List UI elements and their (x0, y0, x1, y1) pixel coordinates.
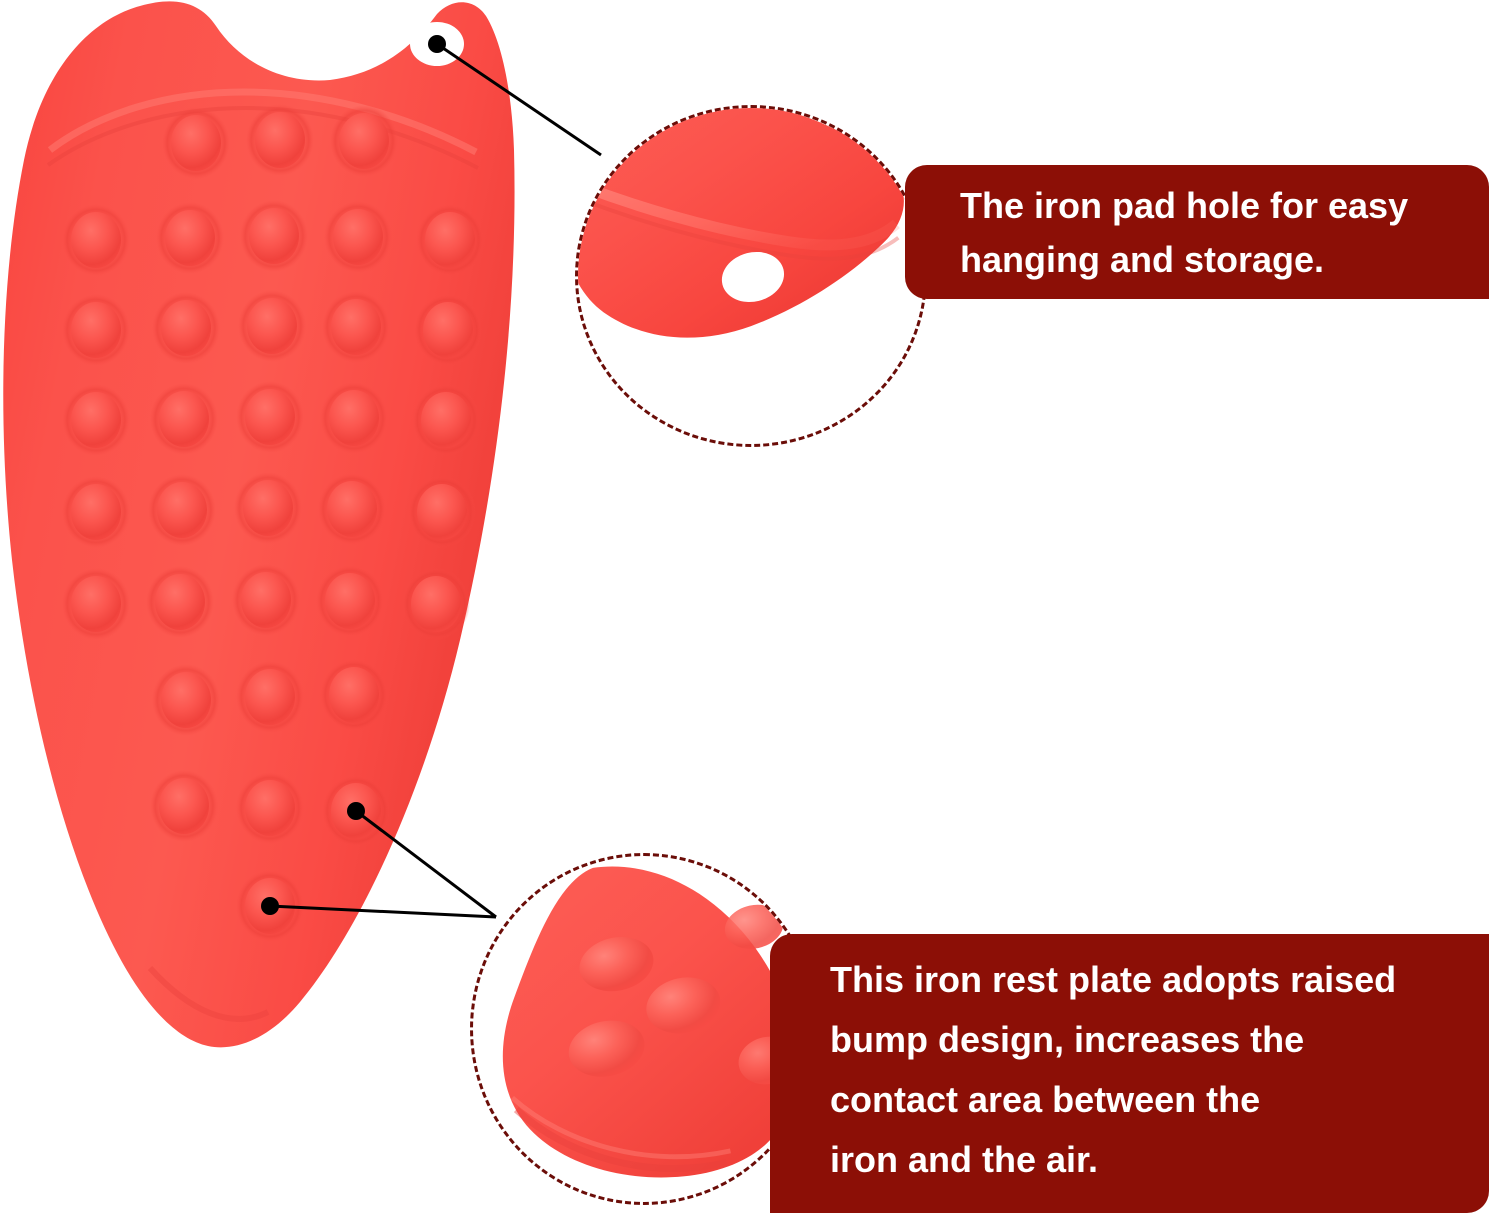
iron-rest-pad-image (0, 0, 520, 1060)
detail-view-hanging-hole (575, 105, 927, 447)
callout-2-line-2: bump design, increases the (830, 1010, 1463, 1070)
detail-view-raised-bumps (470, 853, 818, 1205)
hole-closeup-illustration (578, 108, 924, 444)
hanging-hole (410, 22, 464, 66)
callout-box-raised-bumps: This iron rest plate adopts raised bump … (770, 934, 1489, 1213)
callout-2-line-3: contact area between the (830, 1070, 1463, 1130)
callout-2-line-1: This iron rest plate adopts raised (830, 950, 1463, 1010)
pad-corner-closeup (578, 108, 904, 338)
callout-box-hanging-hole: The iron pad hole for easy hanging and s… (905, 165, 1489, 299)
bump-closeup-illustration (473, 856, 815, 1202)
iron-pad-illustration (0, 0, 520, 1060)
infographic-canvas: The iron pad hole for easy hanging and s… (0, 0, 1489, 1221)
callout-1-line-2: hanging and storage. (960, 233, 1463, 287)
callout-2-line-4: iron and the air. (830, 1130, 1463, 1190)
callout-1-line-1: The iron pad hole for easy (960, 179, 1463, 233)
